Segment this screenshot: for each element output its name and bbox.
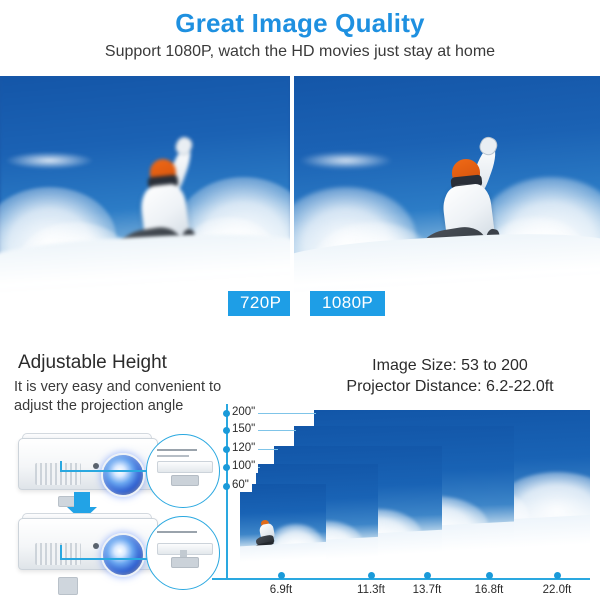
projector-body (18, 518, 158, 570)
projector-vent (35, 543, 81, 565)
thin-cloud (300, 152, 392, 170)
screen-60in (240, 484, 326, 568)
x-label-6-9ft: 6.9ft (258, 584, 304, 596)
snowboarder-photo-720p: 720P (0, 76, 290, 328)
projector-lens (101, 453, 145, 497)
projector-foot (58, 577, 78, 595)
adjustable-height-body: It is very easy and convenient to adjust… (14, 378, 229, 416)
page-subtitle: Support 1080P, watch the HD movies just … (0, 43, 600, 61)
y-label-100: 100" (230, 459, 258, 473)
y-tick-marker (223, 464, 230, 471)
arrow-shaft (74, 492, 90, 508)
callout-foot-pad (171, 475, 199, 486)
y-tick-marker (223, 483, 230, 490)
y-label-120: 120" (230, 441, 258, 455)
x-tick-marker (424, 572, 431, 579)
adjustable-height-title: Adjustable Height (18, 352, 167, 374)
y-label-150: 150" (230, 422, 258, 436)
page-title: Great Image Quality (0, 8, 600, 39)
thin-cloud (6, 152, 93, 170)
badge-720p: 720P (228, 291, 290, 316)
y-tick-marker (223, 410, 230, 417)
callout-detail-line (157, 449, 197, 451)
projection-specs: Image Size: 53 to 200 Projector Distance… (300, 355, 600, 397)
y-label-200: 200" (230, 405, 258, 419)
callout-projector-edge (157, 461, 213, 473)
projector-body (18, 438, 158, 490)
projection-size-chart: 200" 150" 120" 100" 60" 6.9ft 11.3ft 13.… (226, 404, 590, 600)
projector-sensor (93, 543, 99, 549)
x-label-11-3ft: 11.3ft (348, 584, 394, 596)
x-label-13-7ft: 13.7ft (404, 584, 450, 596)
callout-foot-pad (171, 557, 199, 568)
x-axis (212, 578, 590, 580)
resolution-comparison: 720P 1080P (0, 76, 600, 328)
projector-foot-retracted (14, 430, 164, 500)
y-label-60: 60" (230, 478, 252, 492)
x-label-16-8ft: 16.8ft (466, 584, 512, 596)
screen-snow (240, 542, 326, 568)
y-tick-marker (223, 446, 230, 453)
callout-detail-line (157, 455, 189, 457)
foot-callout-extended (146, 516, 220, 590)
projector-vent (35, 463, 81, 485)
callout-leader-line (60, 545, 62, 559)
callout-leader-line (60, 470, 150, 472)
x-label-22-0ft: 22.0ft (534, 584, 580, 596)
snowboarder-photo-1080p: 1080P (294, 76, 600, 328)
projector-sensor (93, 463, 99, 469)
foot-callout-retracted (146, 434, 220, 508)
projector-foot-extended (14, 510, 164, 580)
callout-leader-line (60, 558, 150, 560)
x-tick-marker (368, 572, 375, 579)
spec-projector-distance: Projector Distance: 6.2-22.0ft (300, 376, 600, 397)
spec-image-size: Image Size: 53 to 200 (300, 355, 600, 376)
product-infographic: Great Image Quality Support 1080P, watch… (0, 0, 600, 600)
callout-detail-line (157, 531, 197, 533)
badge-1080p: 1080P (310, 291, 385, 316)
projector-lens (101, 533, 145, 577)
y-tick-marker (223, 427, 230, 434)
x-tick-marker (554, 572, 561, 579)
x-tick-marker (486, 572, 493, 579)
x-tick-marker (278, 572, 285, 579)
